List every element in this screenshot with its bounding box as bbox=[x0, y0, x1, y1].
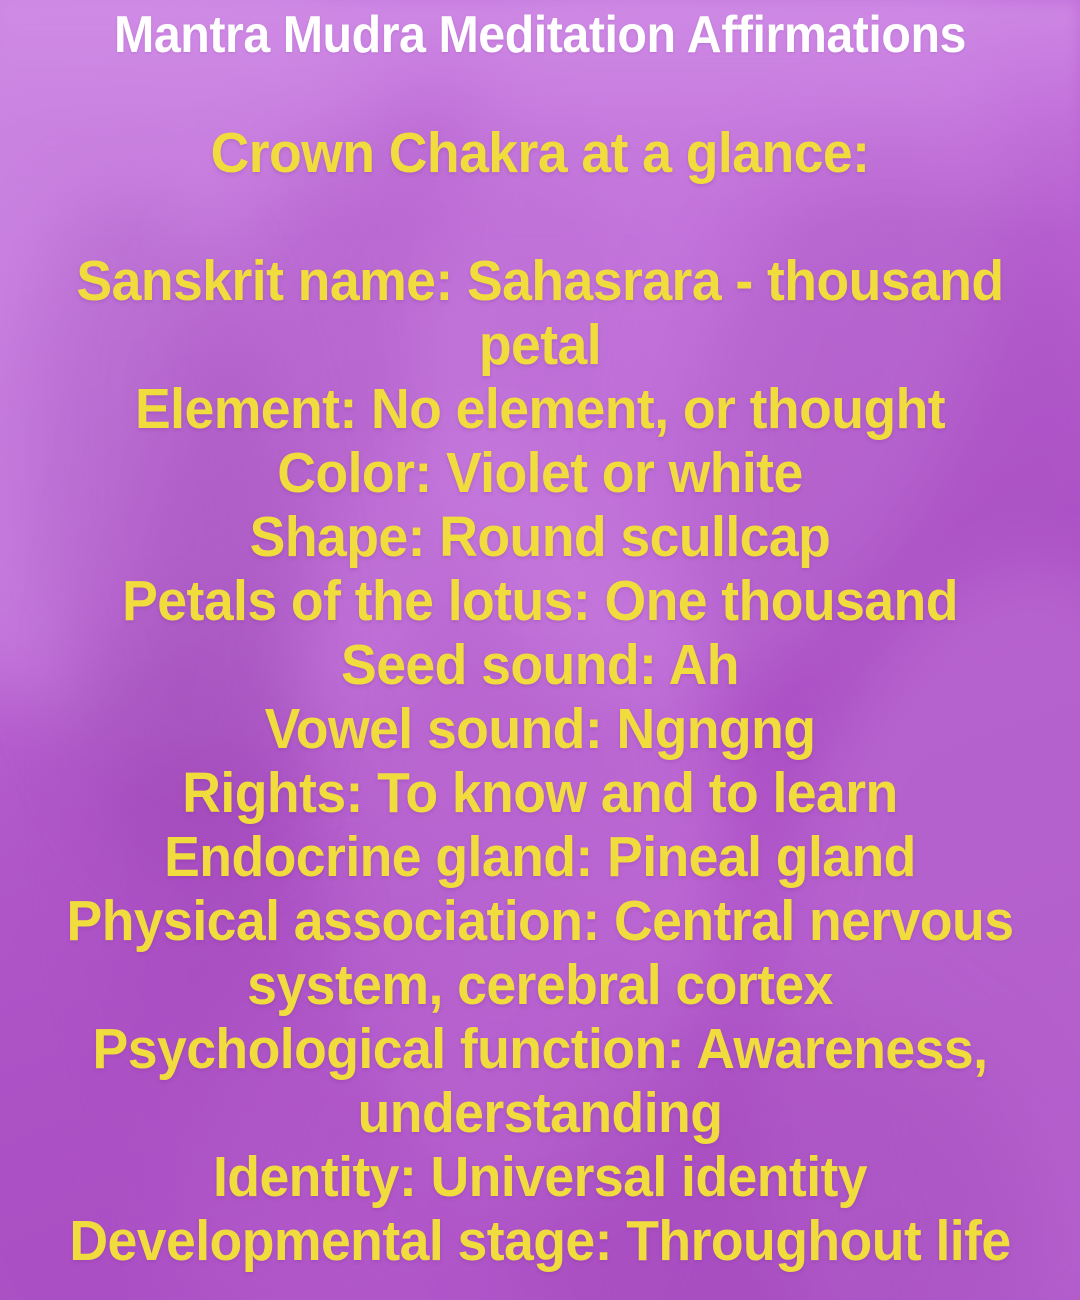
section-heading: Crown Chakra at a glance: bbox=[32, 121, 1047, 185]
fact-line-shape: Shape: Round scullcap bbox=[32, 505, 1047, 569]
page-content: Mantra Mudra Meditation Affirmations Cro… bbox=[0, 0, 1080, 1300]
fact-line-seed-sound: Seed sound: Ah bbox=[32, 633, 1047, 697]
fact-line-rights: Rights: To know and to learn bbox=[32, 761, 1047, 825]
fact-line-psychological-function: Psychological function: Awareness, under… bbox=[32, 1017, 1047, 1145]
fact-line-identity: Identity: Universal identity bbox=[32, 1145, 1047, 1209]
fact-line-vowel-sound: Vowel sound: Ngngng bbox=[32, 697, 1047, 761]
fact-line-endocrine-gland: Endocrine gland: Pineal gland bbox=[32, 825, 1047, 889]
fact-line-developmental-stage: Developmental stage: Throughout life bbox=[32, 1209, 1047, 1273]
fact-line-element: Element: No element, or thought bbox=[32, 377, 1047, 441]
crown-chakra-fact-list: Crown Chakra at a glance: Sanskrit name:… bbox=[32, 121, 1047, 1273]
fact-line-sanskrit-name: Sanskrit name: Sahasrara - thousand peta… bbox=[32, 249, 1047, 377]
page-title: Mantra Mudra Meditation Affirmations bbox=[38, 0, 1042, 63]
fact-line-color: Color: Violet or white bbox=[32, 441, 1047, 505]
fact-line-petals-of-the-lotus: Petals of the lotus: One thousand bbox=[32, 569, 1047, 633]
blank-line-spacer bbox=[32, 185, 1047, 249]
fact-line-physical-association: Physical association: Central nervous sy… bbox=[32, 889, 1047, 1017]
